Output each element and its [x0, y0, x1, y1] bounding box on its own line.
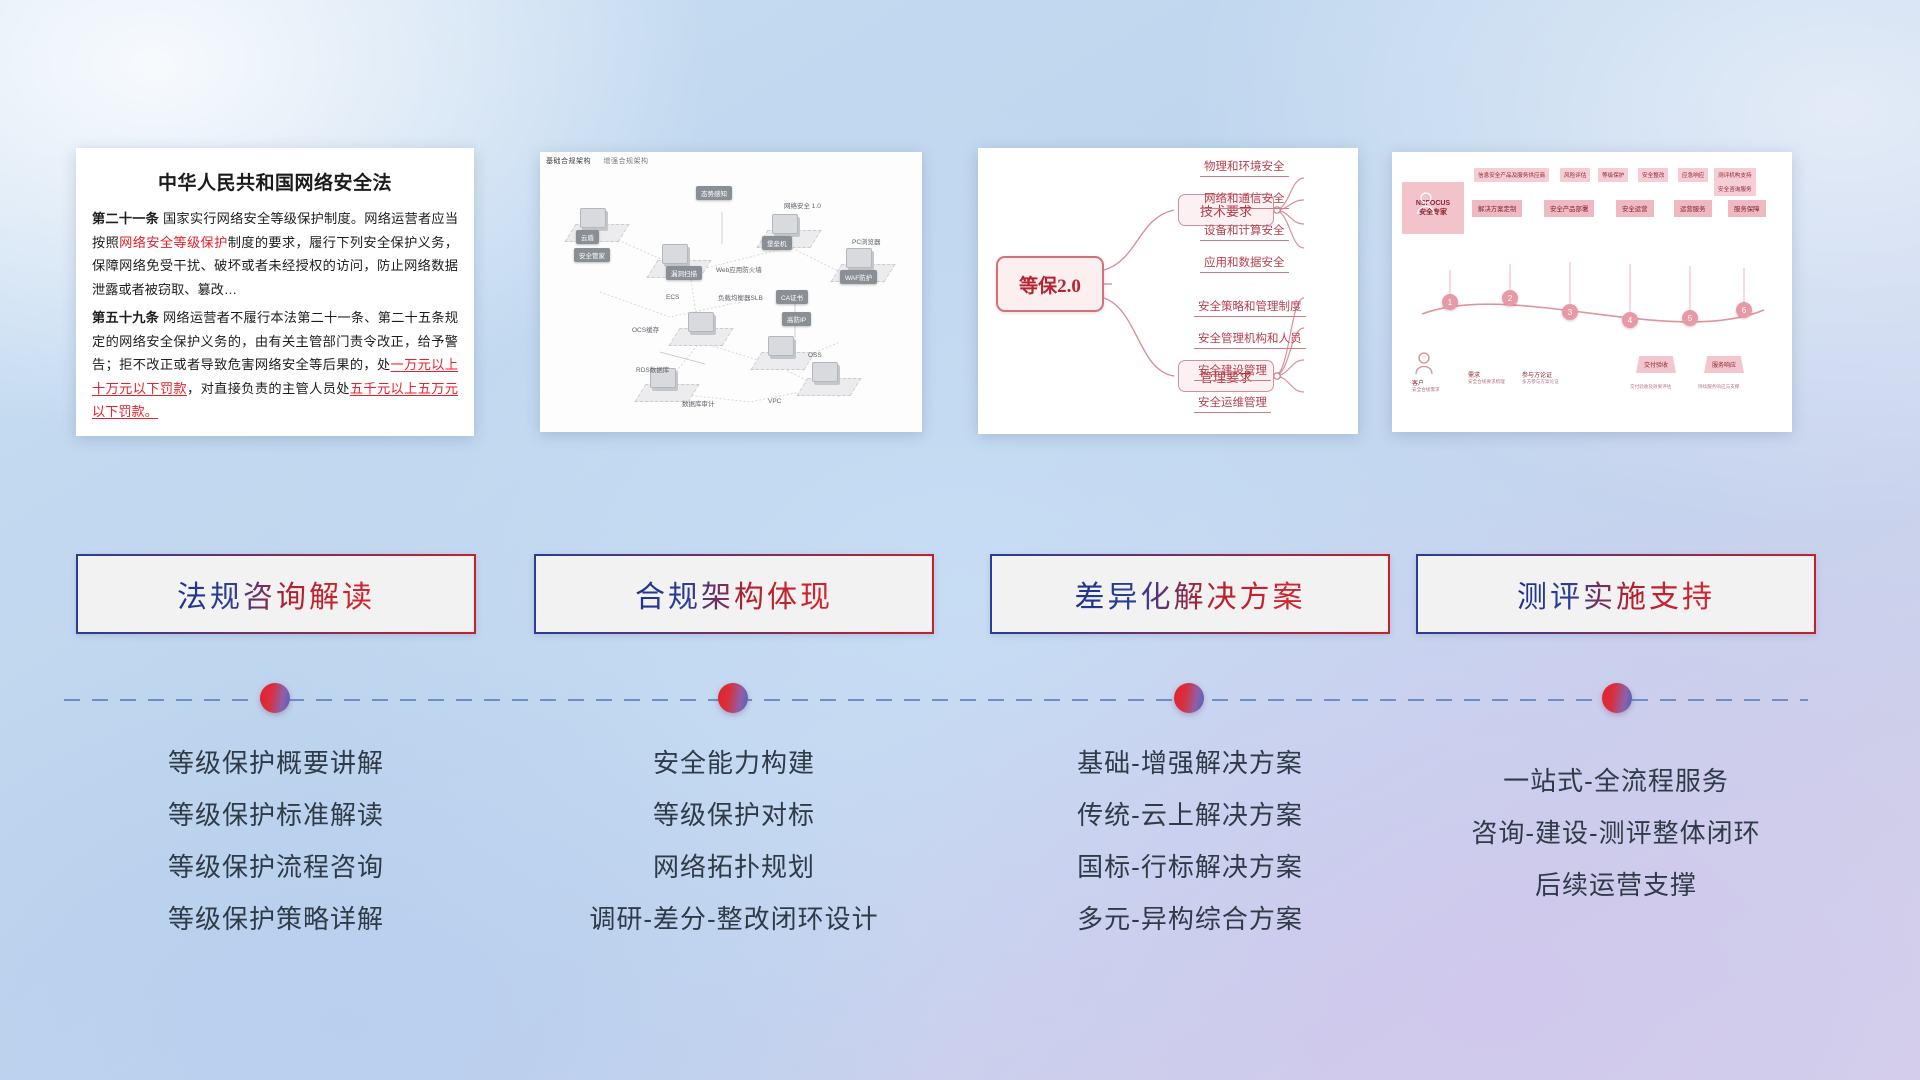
roadmap-trap-0: 交付验收 — [1636, 356, 1676, 373]
roadmap-step-6: 6 — [1736, 302, 1752, 318]
mindmap-root: 等保2.0 — [996, 256, 1104, 312]
arch-node-12: RDS数据库 — [636, 364, 669, 374]
arch-node-13: OSS — [808, 352, 822, 359]
list-item: 等级保护策略详解 — [76, 906, 476, 932]
detail-list-regulation-consulting: 等级保护概要讲解 等级保护标准解读 等级保护流程咨询 等级保护策略详解 — [76, 750, 476, 958]
roadmap-band-1: 安全产品部署 — [1544, 200, 1594, 217]
timeline-dot-1[interactable] — [260, 683, 290, 713]
list-item: 安全能力构建 — [534, 750, 934, 776]
list-item: 等级保护流程咨询 — [76, 854, 476, 880]
list-item: 国标-行标解决方案 — [990, 854, 1390, 880]
roadmap-band-0: 解决方案定制 — [1472, 200, 1522, 217]
list-item: 多元-异构综合方案 — [990, 906, 1390, 932]
roadmap-band-4: 服务保障 — [1728, 200, 1766, 217]
list-item: 一站式-全流程服务 — [1416, 768, 1816, 794]
detail-list-compliance-architecture: 安全能力构建 等级保护对标 网络拓扑规划 调研-差分-整改闭环设计 — [534, 750, 934, 958]
nsfocus-badge-line-0: NSFOCUS — [1416, 199, 1450, 208]
article-number: 第二十一条 — [92, 211, 159, 226]
roadmap-chip-5: 测评机构支持 — [1714, 168, 1756, 182]
card-cybersecurity-law: 中华人民共和国网络安全法 第二十一条 国家实行网络安全等级保护制度。网络运营者应… — [76, 148, 474, 436]
heading-box-differentiated-solution[interactable]: 差异化解决方案 — [990, 554, 1390, 634]
roadmap-trap-0-sub: 交付验收及效果评估 — [1630, 384, 1671, 390]
arch-node-3: 堡垒机 — [762, 236, 792, 250]
arch-node-15: 数据库审计 — [682, 398, 715, 408]
nsfocus-badge: NSFOCUS 安全专家 — [1402, 182, 1464, 234]
heading-box-compliance-architecture[interactable]: 合规架构体现 — [534, 554, 934, 634]
article-59-run-2: ，对直接负责的主管人员处 — [187, 381, 350, 396]
card-djcp-mindmap: 等保2.0 技术要求 管理要求 物理和环境安全 网络和通信安全 设备和计算安全 … — [978, 148, 1358, 434]
arch-node-4: 漏洞扫描 — [666, 266, 702, 280]
roadmap-chip-1: 风险评估 — [1560, 168, 1590, 182]
heading-box-regulation-consulting[interactable]: 法规咨询解读 — [76, 554, 476, 634]
article-number: 第五十九条 — [92, 310, 159, 325]
roadmap-step-4: 4 — [1622, 312, 1638, 328]
roadmap-tag-1: 需求 安全合规要求梳理 — [1468, 370, 1505, 385]
mindmap-leaf-tech-0: 物理和环境安全 — [1200, 158, 1289, 177]
law-article-21: 第二十一条 国家实行网络安全等级保护制度。网络运营者应当按照网络安全等级保护制度… — [92, 207, 458, 301]
mindmap-leaf-mgmt-0: 安全策略和管理制度 — [1194, 298, 1306, 317]
roadmap-tag-1-sub: 安全合规要求梳理 — [1468, 379, 1505, 385]
slide-canvas: 中华人民共和国网络安全法 第二十一条 国家实行网络安全等级保护制度。网络运营者应… — [0, 0, 1920, 1080]
roadmap-step-3: 3 — [1562, 304, 1578, 320]
arch-node-17: PC浏览器 — [852, 236, 881, 246]
list-item: 咨询-建设-测评整体闭环 — [1416, 820, 1816, 846]
roadmap-chip-3: 安全整改 — [1638, 168, 1668, 182]
law-article-59: 第五十九条 网络运营者不履行本法第二十一条、第二十五条规定的网络安全保护义务的，… — [92, 306, 458, 424]
roadmap-step-5: 5 — [1682, 310, 1698, 326]
roadmap-trap-0-label: 交付验收 — [1644, 363, 1668, 369]
timeline-dot-3[interactable] — [1174, 683, 1204, 713]
timeline — [64, 697, 1808, 703]
roadmap-chip-0: 信息安全产品及服务供应商 — [1474, 168, 1549, 182]
roadmap-tag-0-sub: 安全合规需求 — [1412, 387, 1440, 393]
arch-node-16: 网络安全 1.0 — [784, 200, 821, 210]
timeline-dot-4[interactable] — [1602, 683, 1632, 713]
arch-node-6: Web应用防火墙 — [716, 264, 762, 274]
list-item: 基础-增强解决方案 — [990, 750, 1390, 776]
arch-node-8: ECS — [666, 294, 679, 301]
list-item: 后续运营支撑 — [1416, 872, 1816, 898]
detail-list-evaluation-support: 一站式-全流程服务 咨询-建设-测评整体闭环 后续运营支撑 — [1416, 768, 1816, 924]
law-title: 中华人民共和国网络安全法 — [92, 168, 458, 195]
arch-node-1: 安全管家 — [574, 248, 610, 262]
timeline-dashed-line — [64, 699, 1808, 701]
roadmap-tag-2: 参与方论证 多方参与方案论证 — [1522, 370, 1559, 385]
roadmap-trap-1: 服务响应 — [1704, 356, 1744, 373]
list-item: 传统-云上解决方案 — [990, 802, 1390, 828]
list-item: 网络拓扑规划 — [534, 854, 934, 880]
heading-box-evaluation-support[interactable]: 测评实施支持 — [1416, 554, 1816, 634]
mindmap-leaf-tech-3: 应用和数据安全 — [1200, 254, 1289, 273]
mindmap-leaf-mgmt-2: 安全建设管理 — [1194, 362, 1271, 381]
roadmap-step-2: 2 — [1502, 290, 1518, 306]
roadmap-tag-2-sub: 多方参与方案论证 — [1522, 379, 1559, 385]
arch-node-0: 云盾 — [576, 230, 599, 244]
heading-label-2: 差异化解决方案 — [1075, 572, 1306, 616]
heading-label-3: 测评实施支持 — [1517, 572, 1715, 616]
roadmap-trap-1-sub: 持续服务响应与支撑 — [1698, 384, 1739, 390]
list-item: 等级保护对标 — [534, 802, 934, 828]
roadmap-tag-0: 客户 安全合规需求 — [1412, 378, 1440, 393]
heading-label-0: 法规咨询解读 — [177, 572, 375, 616]
detail-list-differentiated-solution: 基础-增强解决方案 传统-云上解决方案 国标-行标解决方案 多元-异构综合方案 — [990, 750, 1390, 958]
mindmap-leaf-mgmt-3: 安全运维管理 — [1194, 394, 1271, 413]
nsfocus-badge-line-1: 安全专家 — [1419, 208, 1447, 217]
timeline-dot-2[interactable] — [718, 683, 748, 713]
roadmap-chip-2: 等级保护 — [1598, 168, 1628, 182]
list-item: 调研-差分-整改闭环设计 — [534, 906, 934, 932]
card-nsfocus-roadmap: NSFOCUS 安全专家 信息安全产品及服务供应商 风险评估 等级保护 安全整改… — [1392, 152, 1792, 432]
article-21-highlight: 网络安全等级保护 — [119, 235, 228, 250]
arch-node-10: 高防IP — [782, 312, 811, 326]
roadmap-step-1: 1 — [1442, 294, 1458, 310]
roadmap-chip-4: 应急响应 — [1678, 168, 1708, 182]
arch-node-9: CA证书 — [776, 290, 808, 304]
mindmap-leaf-tech-2: 设备和计算安全 — [1200, 222, 1289, 241]
roadmap-trap-1-label: 服务响应 — [1712, 363, 1736, 369]
arch-node-5: WAF防护 — [840, 270, 877, 284]
nsfocus-roadmap: NSFOCUS 安全专家 信息安全产品及服务供应商 风险评估 等级保护 安全整改… — [1392, 152, 1792, 432]
mindmap-leaf-tech-1: 网络和通信安全 — [1200, 190, 1289, 209]
architecture-diagram: 基础合规架构 增强合规架构 — [540, 152, 922, 432]
arch-node-2: 态势感知 — [696, 186, 732, 200]
list-item: 等级保护概要讲解 — [76, 750, 476, 776]
arch-node-14: VPC — [768, 398, 781, 405]
roadmap-band-2: 安全运营 — [1616, 200, 1654, 217]
arch-node-7: 负载均衡器SLB — [718, 292, 763, 302]
card-compliance-architecture: 基础合规架构 增强合规架构 — [540, 152, 922, 432]
roadmap-chip-6: 安全咨询服务 — [1714, 182, 1756, 196]
mindmap: 等保2.0 技术要求 管理要求 物理和环境安全 网络和通信安全 设备和计算安全 … — [978, 148, 1358, 434]
mindmap-leaf-mgmt-1: 安全管理机构和人员 — [1194, 330, 1306, 349]
arch-node-11: OCS缓存 — [632, 324, 659, 334]
list-item: 等级保护标准解读 — [76, 802, 476, 828]
heading-label-1: 合规架构体现 — [635, 572, 833, 616]
roadmap-band-3: 运营服务 — [1674, 200, 1712, 217]
